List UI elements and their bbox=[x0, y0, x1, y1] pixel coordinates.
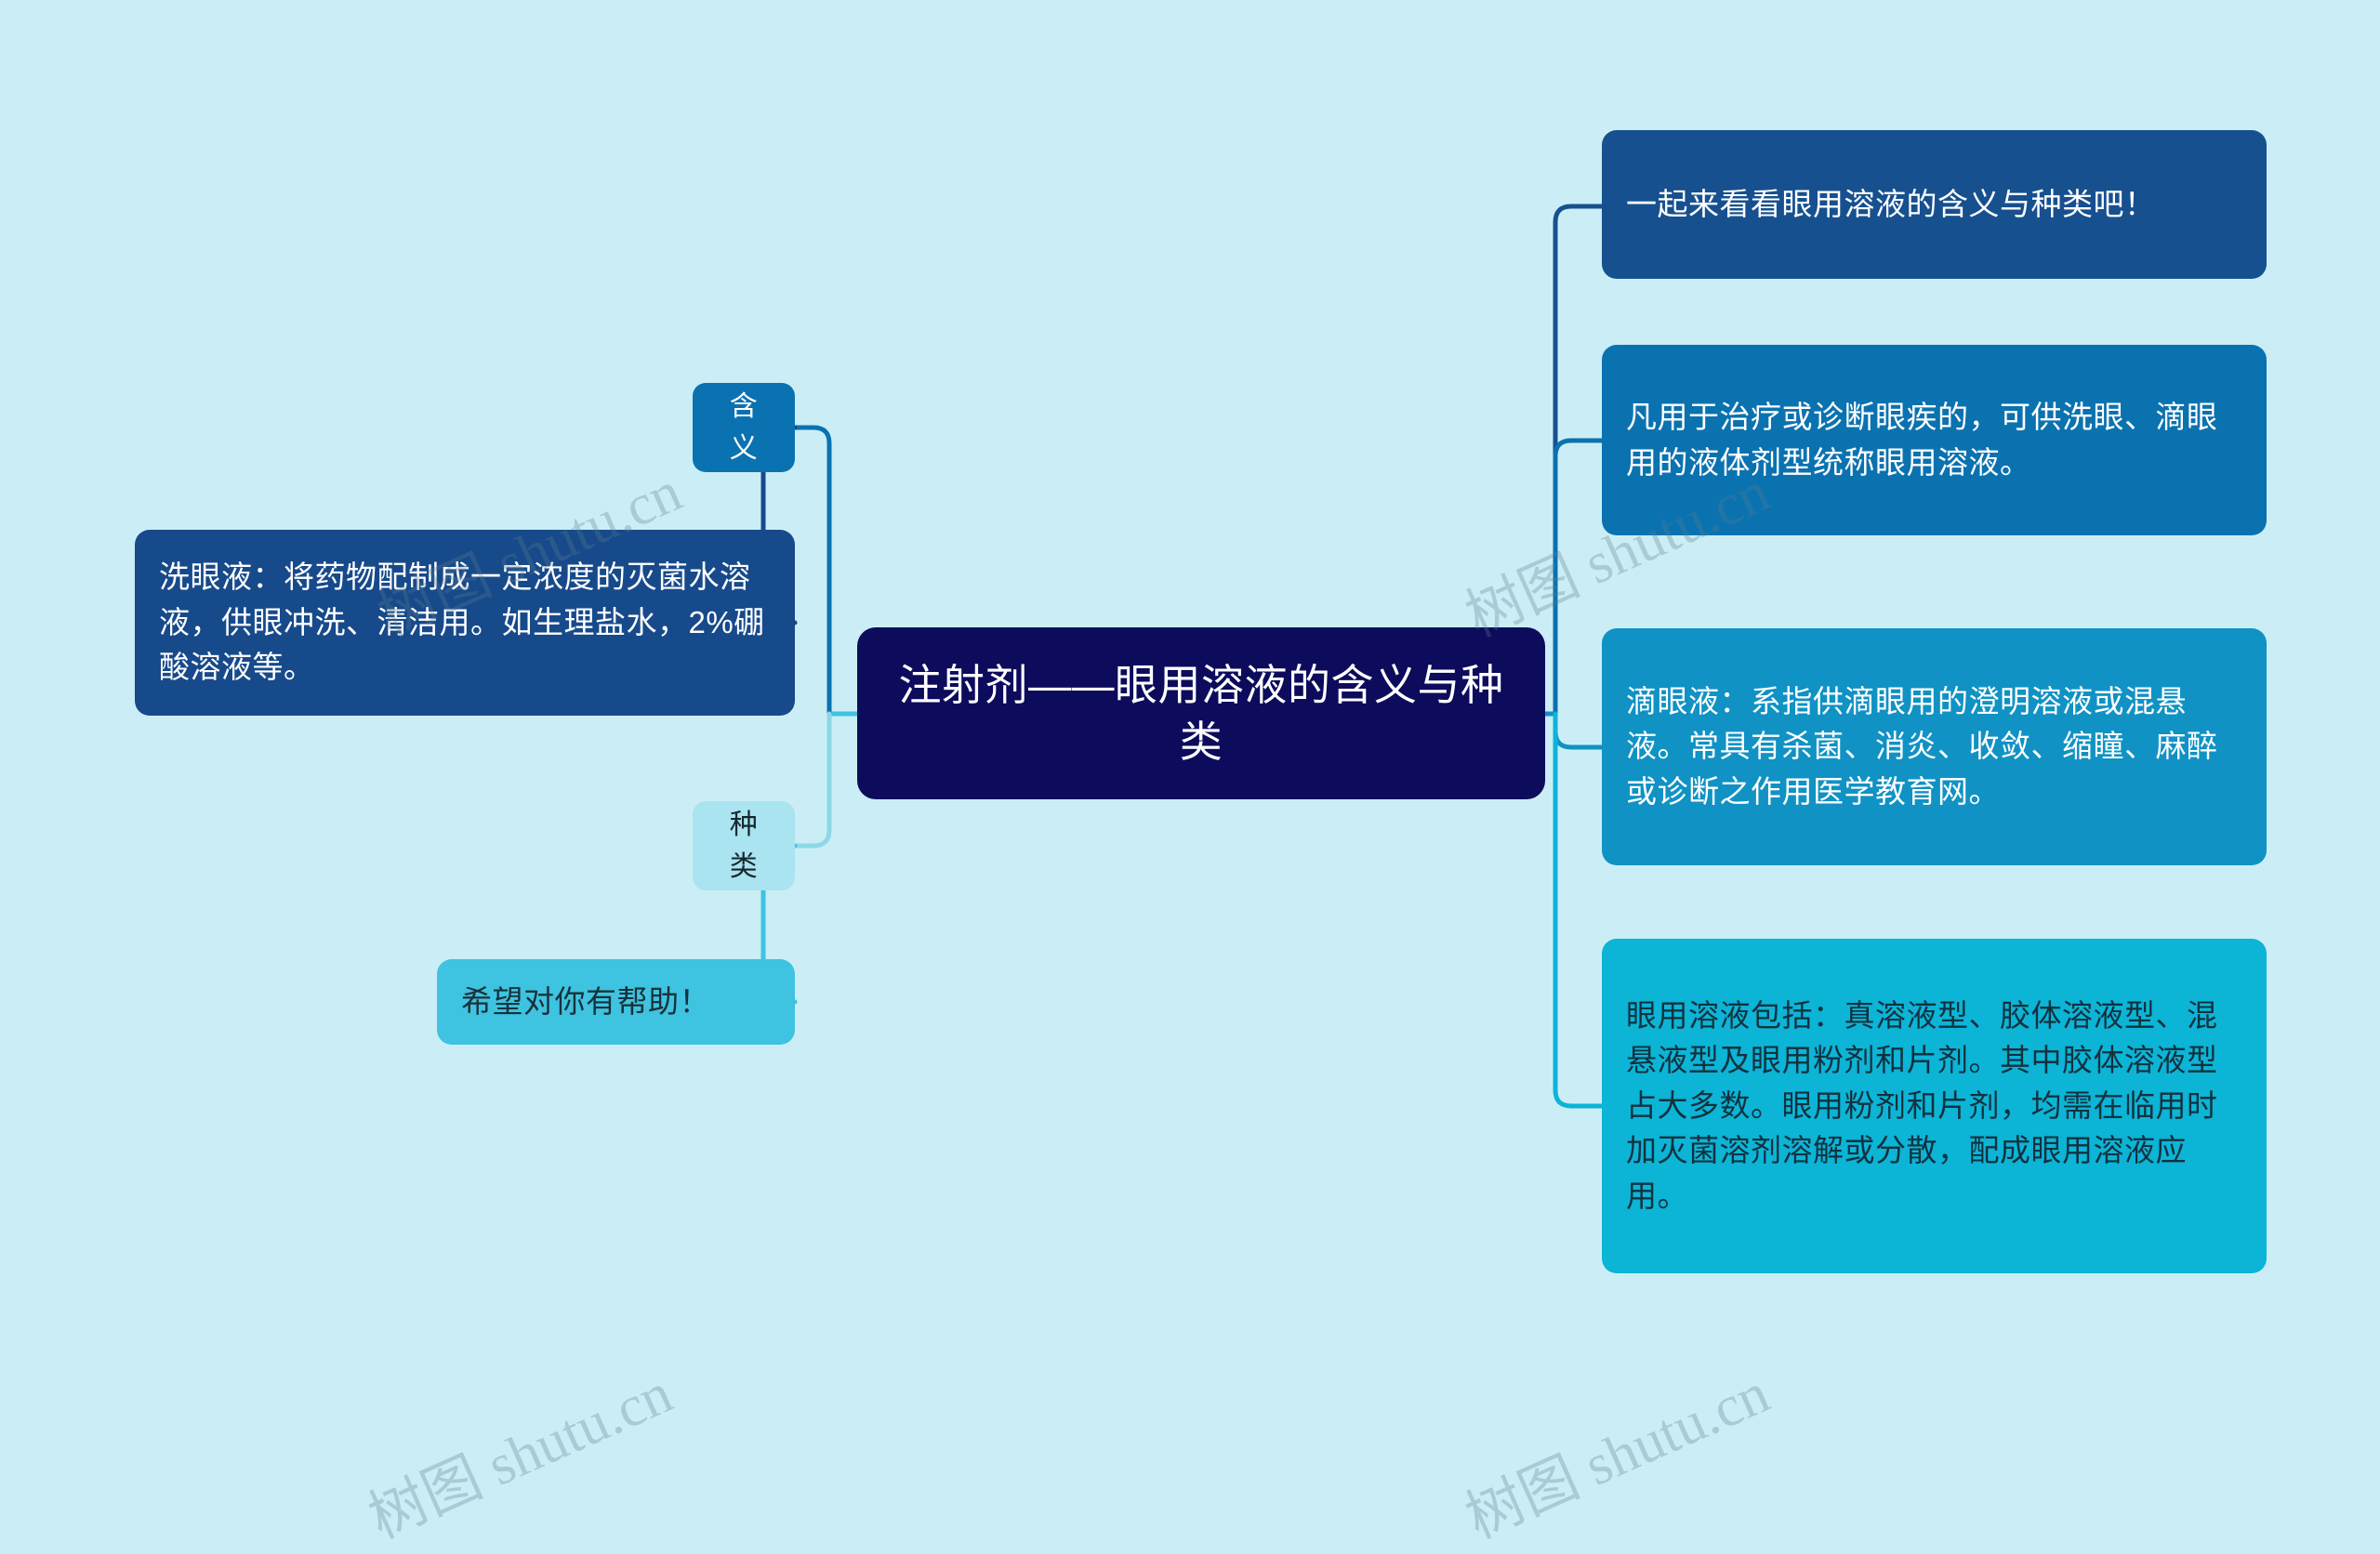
leaf-node-closing-wish[interactable]: 希望对你有帮助！ bbox=[437, 959, 795, 1045]
branch-node-hanyi[interactable]: 含义 bbox=[693, 383, 795, 472]
leaf-node-definition-label: 凡用于治疗或诊断眼疾的，可供洗眼、滴眼用的液体剂型统称眼用溶液。 bbox=[1626, 395, 2242, 485]
leaf-node-closing-wish-label: 希望对你有帮助！ bbox=[461, 979, 771, 1025]
mindmap-canvas: 注射剂——眼用溶液的含义与种类 含义 种类 洗眼液：将药物配制成一定浓度的灭菌水… bbox=[0, 0, 2380, 1425]
leaf-node-eyewash-label: 洗眼液：将药物配制成一定浓度的灭菌水溶液，供眼冲洗、清洁用。如生理盐水，2%硼酸… bbox=[159, 555, 771, 691]
watermark-text: 树图 shutu.cn bbox=[353, 1347, 682, 1554]
leaf-node-eyedrops-label: 滴眼液：系指供滴眼用的澄明溶液或混悬液。常具有杀菌、消炎、收敛、缩瞳、麻醉或诊断… bbox=[1626, 679, 2242, 815]
leaf-node-definition[interactable]: 凡用于治疗或诊断眼疾的，可供洗眼、滴眼用的液体剂型统称眼用溶液。 bbox=[1602, 345, 2267, 535]
branch-node-zhonglei-label: 种类 bbox=[717, 804, 771, 888]
root-node-label: 注射剂——眼用溶液的含义与种类 bbox=[881, 657, 1521, 770]
leaf-node-types[interactable]: 眼用溶液包括：真溶液型、胶体溶液型、混悬液型及眼用粉剂和片剂。其中胶体溶液型占大… bbox=[1602, 939, 2267, 1273]
leaf-node-eyewash[interactable]: 洗眼液：将药物配制成一定浓度的灭菌水溶液，供眼冲洗、清洁用。如生理盐水，2%硼酸… bbox=[135, 530, 795, 716]
branch-node-hanyi-label: 含义 bbox=[717, 386, 771, 469]
watermark-text: 树图 shutu.cn bbox=[1450, 1347, 1779, 1554]
leaf-node-intro-label: 一起来看看眼用溶液的含义与种类吧！ bbox=[1626, 182, 2242, 228]
leaf-node-eyedrops[interactable]: 滴眼液：系指供滴眼用的澄明溶液或混悬液。常具有杀菌、消炎、收敛、缩瞳、麻醉或诊断… bbox=[1602, 628, 2267, 865]
root-node[interactable]: 注射剂——眼用溶液的含义与种类 bbox=[857, 627, 1545, 799]
leaf-node-intro[interactable]: 一起来看看眼用溶液的含义与种类吧！ bbox=[1602, 130, 2267, 279]
leaf-node-types-label: 眼用溶液包括：真溶液型、胶体溶液型、混悬液型及眼用粉剂和片剂。其中胶体溶液型占大… bbox=[1626, 994, 2242, 1219]
branch-node-zhonglei[interactable]: 种类 bbox=[693, 801, 795, 890]
